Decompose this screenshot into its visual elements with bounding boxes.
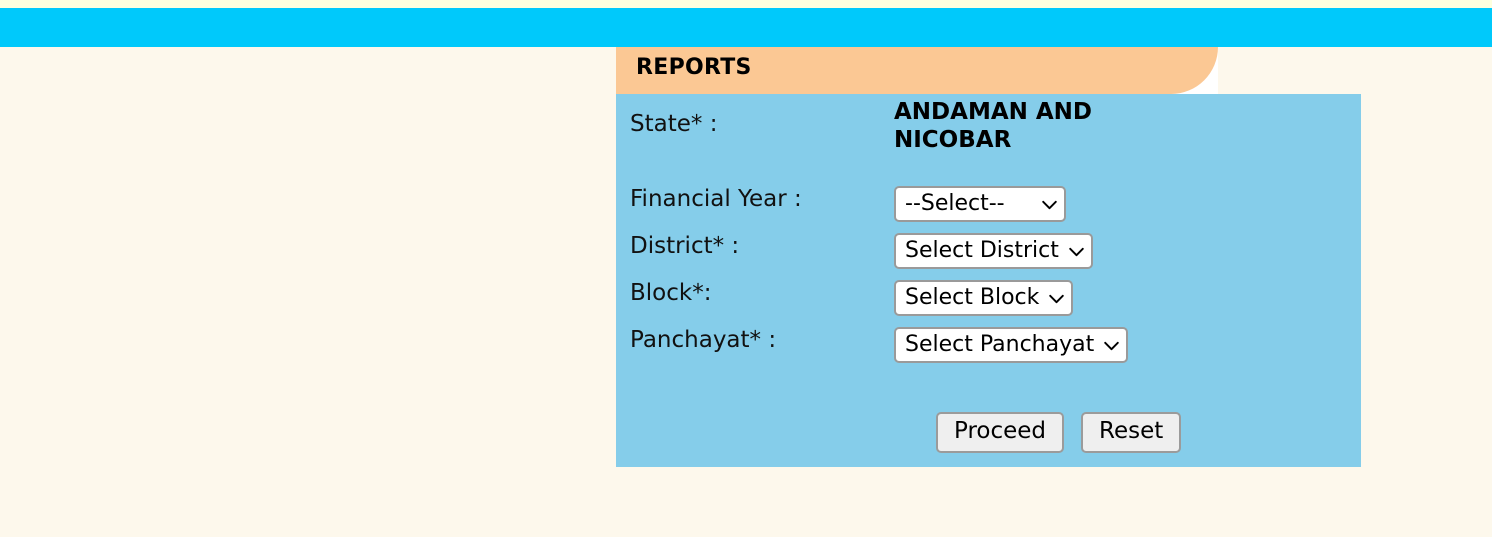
panchayat-label: Panchayat* :: [630, 327, 894, 354]
district-select[interactable]: Select District: [894, 233, 1093, 269]
form-row-district: District* : Select District: [630, 233, 1093, 269]
proceed-button[interactable]: Proceed: [936, 412, 1064, 453]
chevron-down-icon: [1049, 294, 1064, 304]
form-row-financial-year: Financial Year : --Select--: [630, 186, 1066, 222]
state-label: State* :: [630, 111, 894, 138]
chevron-down-icon: [1069, 247, 1084, 257]
top-accent-strip: [0, 0, 1492, 8]
reports-tab-title: REPORTS: [636, 55, 752, 80]
financial-year-label: Financial Year :: [630, 186, 894, 213]
district-control: Select District: [894, 233, 1093, 269]
form-row-state: State* : ANDAMAN AND NICOBAR: [630, 111, 1126, 154]
panchayat-select[interactable]: Select Panchayat: [894, 327, 1128, 363]
district-select-value: Select District: [905, 240, 1059, 262]
chevron-down-icon: [1104, 341, 1119, 351]
form-action-buttons: Proceed Reset: [936, 412, 1181, 453]
form-row-panchayat: Panchayat* : Select Panchayat: [630, 327, 1128, 363]
state-value-wrapper: ANDAMAN AND NICOBAR: [894, 111, 1126, 154]
form-row-block: Block*: Select Block: [630, 280, 1073, 316]
reset-button[interactable]: Reset: [1081, 412, 1181, 453]
block-label: Block*:: [630, 280, 894, 307]
block-select[interactable]: Select Block: [894, 280, 1073, 316]
top-navigation-bar: [0, 8, 1492, 47]
reports-tab-header: REPORTS: [616, 47, 1218, 94]
state-value: ANDAMAN AND NICOBAR: [894, 98, 1126, 154]
panchayat-select-value: Select Panchayat: [905, 334, 1094, 356]
financial-year-control: --Select--: [894, 186, 1066, 222]
financial-year-select-value: --Select--: [905, 193, 1005, 215]
financial-year-select[interactable]: --Select--: [894, 186, 1066, 222]
block-control: Select Block: [894, 280, 1073, 316]
block-select-value: Select Block: [905, 287, 1039, 309]
district-label: District* :: [630, 233, 894, 260]
report-filter-panel: State* : ANDAMAN AND NICOBAR Financial Y…: [616, 94, 1361, 467]
chevron-down-icon: [1042, 200, 1057, 210]
panchayat-control: Select Panchayat: [894, 327, 1128, 363]
